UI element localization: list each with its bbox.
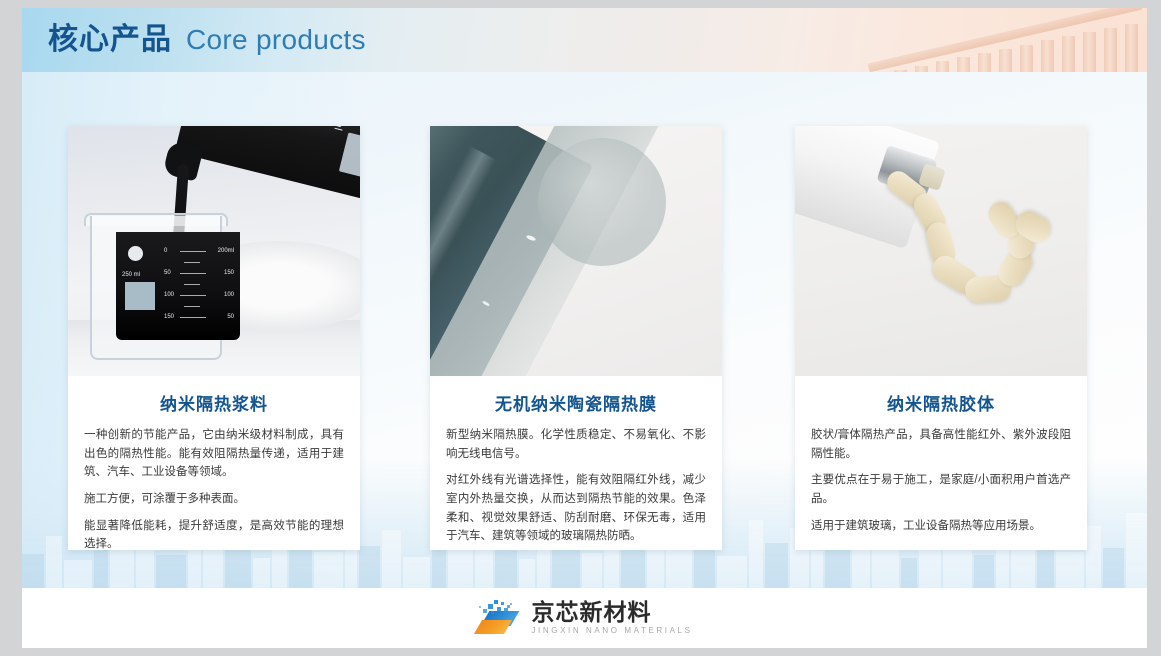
product-text-colloid: 纳米隔热胶体 胶状/膏体隔热产品，具备高性能红外、紫外波段阻隔性能。 主要优点在… <box>795 376 1087 545</box>
beaker-tick-line <box>180 251 206 252</box>
logo-pixel-square <box>483 609 487 613</box>
product-card-nano-insulation-slurry[interactable]: 500ml 250 ml 0200ml5015010010015050 <box>68 126 360 550</box>
slide-footer: 京芯新材料 JINGXIN NANO MATERIALS <box>22 588 1147 648</box>
product-photo-slurry: 500ml 250 ml 0200ml5015010010015050 <box>68 126 360 376</box>
logo-pixel-square <box>497 607 501 611</box>
page-title-cn: 核心产品 <box>48 25 172 55</box>
photo-beaker-liquid: 250 ml 0200ml5015010010015050 <box>116 232 240 340</box>
product-text-slurry: 纳米隔热浆料 一种创新的节能产品，它由纳米级材料制成，具有出色的隔热性能。能有效… <box>68 376 360 550</box>
logo-pixel-square <box>494 600 498 604</box>
photo-film-roll-end <box>538 138 666 266</box>
product-paragraph: 对红外线有光谱选择性，能有效阻隔红外线，减少室内外热量交换，从而达到隔热节能的效… <box>446 471 706 546</box>
photo-bottle-label <box>339 132 360 181</box>
product-title: 无机纳米陶瓷隔热膜 <box>446 390 706 415</box>
product-card-nano-insulation-colloid[interactable]: 纳米隔热胶体 胶状/膏体隔热产品，具备高性能红外、紫外波段阻隔性能。 主要优点在… <box>795 126 1087 550</box>
beaker-tick-label-left: 100 <box>164 292 174 298</box>
product-card-inorganic-nano-ceramic-film[interactable]: 无机纳米陶瓷隔热膜 新型纳米隔热膜。化学性质稳定、不易氧化、不影响无线电信号。 … <box>430 126 722 550</box>
photo-bottle: 500ml <box>175 126 360 210</box>
photo-beaker-volume-text: 250 ml <box>122 272 140 278</box>
product-card-list: 500ml 250 ml 0200ml5015010010015050 <box>22 72 1147 588</box>
product-paragraph: 能显著降低能耗，提升舒适度，是高效节能的理想选择。 <box>84 517 344 551</box>
beaker-tick-line <box>180 317 206 318</box>
product-title: 纳米隔热浆料 <box>84 390 344 415</box>
beaker-tick-line <box>180 295 206 296</box>
beaker-tick-line-minor <box>184 262 200 263</box>
photo-beaker: 250 ml 0200ml5015010010015050 <box>90 216 222 360</box>
photo-bottle-volume-text: 500ml <box>331 126 350 132</box>
page-title-en: Core products <box>186 26 366 54</box>
logo-plate-orange <box>474 620 512 634</box>
logo-pixel-square <box>510 603 512 605</box>
slide-body: 500ml 250 ml 0200ml5015010010015050 <box>22 72 1147 588</box>
beaker-tick-label-right: 50 <box>227 314 234 320</box>
product-photo-film <box>430 126 722 376</box>
logo-pixel-square <box>501 602 504 605</box>
brand-name-en: JINGXIN NANO MATERIALS <box>531 627 692 635</box>
beaker-tick-label-left: 50 <box>164 270 171 276</box>
photo-beaker-brand-icon <box>128 246 143 261</box>
beaker-tick-label-right: 200ml <box>218 248 234 254</box>
product-paragraph: 一种创新的节能产品，它由纳米级材料制成，具有出色的隔热性能。能有效阻隔热量传递，… <box>84 426 344 482</box>
beaker-tick-label-left: 0 <box>164 248 167 254</box>
product-paragraph: 主要优点在于易于施工，是家庭/小面积用户首选产品。 <box>811 471 1071 508</box>
product-paragraph: 胶状/膏体隔热产品，具备高性能红外、紫外波段阻隔性能。 <box>811 426 1071 463</box>
beaker-tick-line-minor <box>184 306 200 307</box>
brand-logo: 京芯新材料 JINGXIN NANO MATERIALS <box>476 600 692 636</box>
brand-name-cn: 京芯新材料 <box>531 601 692 624</box>
logo-pixel-square <box>488 604 493 609</box>
photo-paste-bead <box>889 180 1039 330</box>
product-text-film: 无机纳米陶瓷隔热膜 新型纳米隔热膜。化学性质稳定、不易氧化、不影响无线电信号。 … <box>430 376 722 550</box>
product-photo-colloid <box>795 126 1087 376</box>
slide-frame-right <box>1147 0 1161 656</box>
photo-beaker-sticker <box>125 282 155 310</box>
slide-header: 核心产品 Core products <box>22 8 1147 72</box>
logo-pixel-square <box>491 611 494 614</box>
slide-frame-top <box>0 0 1161 8</box>
logo-pixel-square <box>479 606 481 608</box>
slide: 核心产品 Core products 500ml <box>0 0 1161 656</box>
product-paragraph: 新型纳米隔热膜。化学性质稳定、不易氧化、不影响无线电信号。 <box>446 426 706 463</box>
slide-frame-left <box>0 0 22 656</box>
slide-frame-bottom <box>0 648 1161 656</box>
beaker-tick-label-right: 100 <box>224 292 234 298</box>
jingxin-logo-icon <box>476 600 522 636</box>
beaker-tick-line <box>180 273 206 274</box>
product-paragraph: 适用于建筑玻璃，工业设备隔热等应用场景。 <box>811 517 1071 536</box>
beaker-tick-label-right: 150 <box>224 270 234 276</box>
logo-pixel-square <box>504 608 508 612</box>
product-title: 纳米隔热胶体 <box>811 390 1071 415</box>
beaker-tick-line-minor <box>184 284 200 285</box>
product-paragraph: 施工方便，可涂覆于多种表面。 <box>84 490 344 509</box>
beaker-tick-label-left: 150 <box>164 314 174 320</box>
